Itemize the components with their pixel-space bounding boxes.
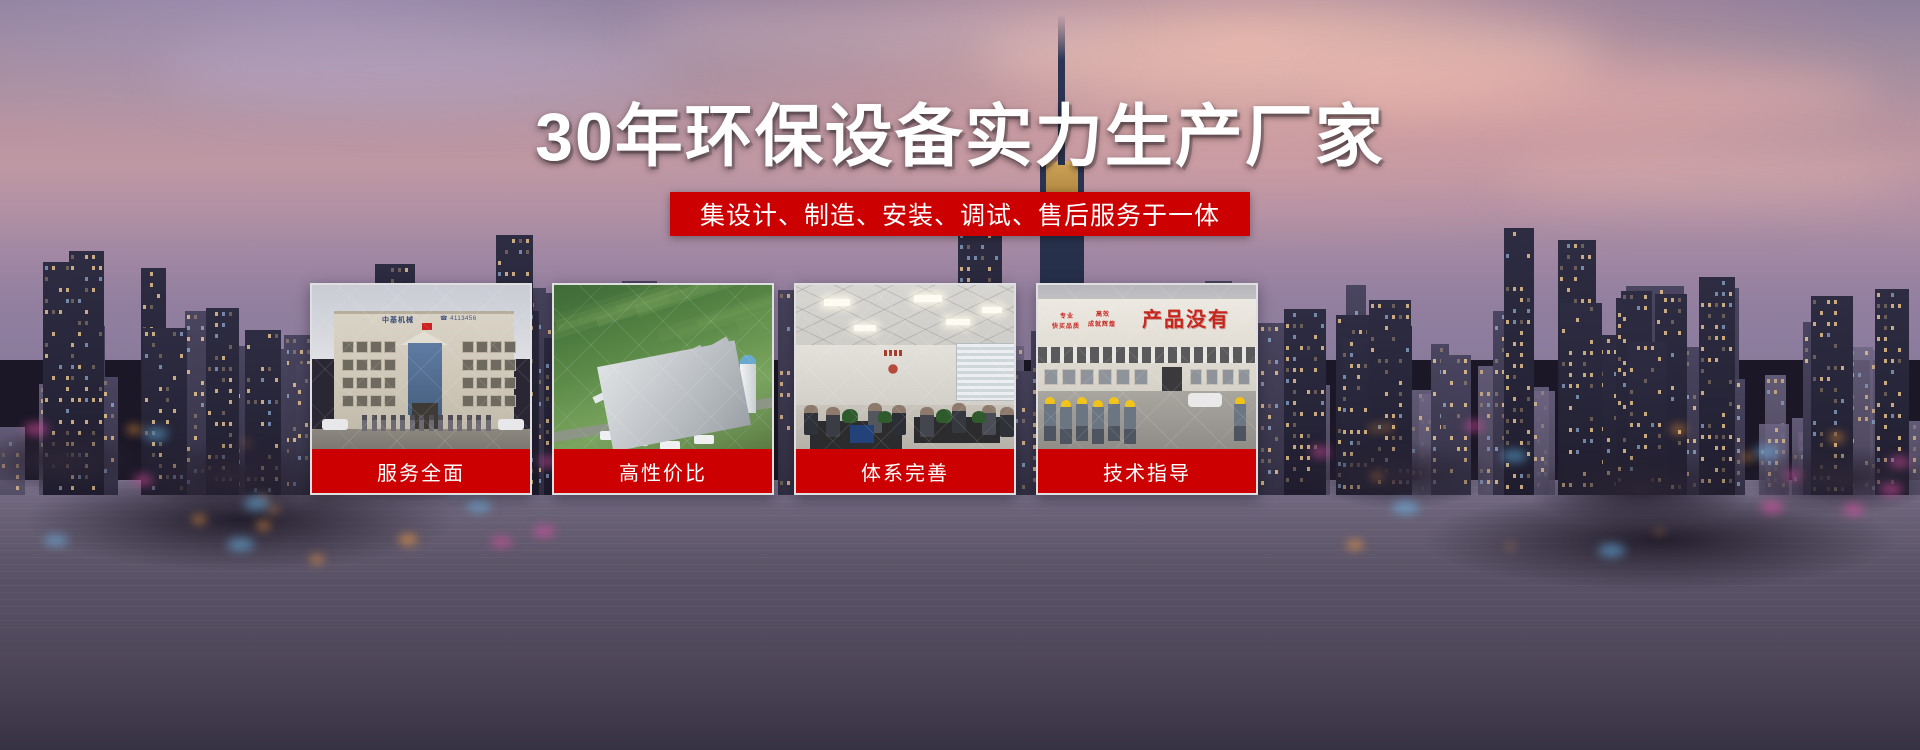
window-light bbox=[1574, 266, 1577, 270]
photo-person bbox=[457, 415, 462, 431]
window-light bbox=[71, 343, 74, 347]
photo-window bbox=[504, 359, 516, 371]
photo-window-blinds bbox=[956, 343, 1014, 401]
window-light bbox=[99, 332, 102, 336]
window-light bbox=[92, 365, 95, 369]
shore-light bbox=[1656, 530, 1663, 533]
window-light bbox=[71, 354, 74, 358]
photo-clerestory-band bbox=[1038, 347, 1256, 363]
window-light bbox=[1834, 311, 1837, 315]
window-light bbox=[1834, 366, 1837, 370]
photo-truck bbox=[694, 435, 714, 444]
window-light bbox=[1715, 325, 1718, 329]
window-light bbox=[1607, 350, 1610, 354]
window-light bbox=[1805, 348, 1808, 352]
window-light bbox=[194, 315, 197, 319]
photo-window bbox=[1062, 369, 1076, 385]
window-light bbox=[222, 367, 225, 371]
window-light bbox=[1701, 325, 1704, 329]
photo-window bbox=[356, 341, 368, 353]
window-light bbox=[145, 332, 148, 336]
window-light bbox=[1574, 244, 1577, 248]
window-light bbox=[1671, 353, 1674, 357]
window-light bbox=[1644, 346, 1647, 350]
window-light bbox=[152, 332, 155, 336]
window-light bbox=[201, 326, 204, 330]
window-light bbox=[173, 332, 176, 336]
window-light bbox=[498, 272, 501, 276]
shore-light bbox=[1347, 541, 1363, 549]
photo-person bbox=[826, 407, 840, 437]
photo-laptop bbox=[850, 425, 874, 443]
window-light bbox=[519, 239, 522, 243]
photo-worker-body bbox=[1124, 407, 1136, 444]
window-light bbox=[52, 310, 55, 314]
photo-window bbox=[504, 377, 516, 389]
company-headquarters-building-photo: 中基机械 ☎ 4113456 bbox=[312, 285, 530, 453]
photo-worker-body bbox=[1092, 407, 1104, 444]
shore-light bbox=[1761, 501, 1784, 512]
window-light bbox=[159, 365, 162, 369]
photo-worker bbox=[1108, 397, 1120, 441]
hard-hat-icon bbox=[1077, 397, 1087, 404]
window-light bbox=[143, 305, 146, 309]
window-light bbox=[1891, 304, 1894, 308]
factory-slogan-text: 成就辉煌 bbox=[1088, 319, 1116, 328]
window-light bbox=[85, 310, 88, 314]
window-light bbox=[1722, 281, 1725, 285]
card-label-value: 高性价比 bbox=[554, 449, 772, 493]
window-light bbox=[1820, 377, 1823, 381]
window-light bbox=[59, 288, 62, 292]
window-light bbox=[1715, 358, 1718, 362]
window-light bbox=[960, 267, 963, 271]
window-light bbox=[208, 367, 211, 371]
window-light bbox=[45, 354, 48, 358]
factory-banner-text: 产品没有 bbox=[1142, 303, 1230, 332]
photo-worker bbox=[1076, 397, 1088, 441]
photo-worker-body bbox=[1060, 407, 1072, 444]
shore-light bbox=[1754, 446, 1779, 458]
window-light bbox=[967, 245, 970, 249]
feature-card-guidance[interactable]: 产品没有 专业 快买品质 高效 成就辉煌 技术指导 bbox=[1036, 283, 1258, 495]
window-light bbox=[1813, 377, 1816, 381]
window-light bbox=[85, 255, 88, 259]
window-light bbox=[71, 365, 74, 369]
window-light bbox=[1569, 373, 1572, 377]
window-light bbox=[960, 278, 963, 282]
photo-window bbox=[1116, 369, 1130, 385]
photo-plant bbox=[936, 409, 952, 423]
window-light bbox=[1820, 333, 1823, 337]
window-light bbox=[78, 321, 81, 325]
window-light bbox=[1708, 336, 1711, 340]
hard-hat-icon bbox=[1109, 397, 1119, 404]
window-light bbox=[1715, 303, 1718, 307]
window-light bbox=[1576, 384, 1579, 388]
window-light bbox=[512, 239, 515, 243]
window-light bbox=[1569, 384, 1572, 388]
photo-window bbox=[504, 341, 516, 353]
window-light bbox=[1898, 348, 1901, 352]
window-light bbox=[187, 326, 190, 330]
photo-person bbox=[486, 415, 491, 431]
photo-person bbox=[362, 415, 367, 431]
window-light bbox=[1722, 303, 1725, 307]
photo-person bbox=[410, 415, 415, 431]
photo-window bbox=[370, 341, 382, 353]
window-light bbox=[215, 312, 218, 316]
window-light bbox=[1623, 295, 1626, 299]
photo-window bbox=[490, 377, 502, 389]
window-light bbox=[1884, 315, 1887, 319]
photo-ceiling-light bbox=[914, 295, 942, 302]
window-light bbox=[1827, 322, 1830, 326]
card-label-system: 体系完善 bbox=[796, 449, 1014, 493]
window-light bbox=[1898, 359, 1901, 363]
photo-window bbox=[384, 341, 396, 353]
window-light bbox=[1708, 380, 1711, 384]
window-light bbox=[1891, 370, 1894, 374]
window-light bbox=[988, 267, 991, 271]
feature-card-system[interactable]: 体系完善 bbox=[794, 283, 1016, 495]
window-light bbox=[1569, 362, 1572, 366]
hard-hat-icon bbox=[1045, 397, 1055, 404]
window-light bbox=[215, 356, 218, 360]
window-light bbox=[268, 334, 271, 338]
photo-silo-cap bbox=[740, 355, 756, 364]
window-light bbox=[974, 256, 977, 260]
window-light bbox=[1813, 355, 1816, 359]
window-light bbox=[293, 339, 296, 343]
window-light bbox=[59, 310, 62, 314]
window-light bbox=[1664, 298, 1667, 302]
window-light bbox=[1506, 254, 1509, 258]
window-light bbox=[405, 268, 408, 272]
photo-person bbox=[1000, 407, 1014, 437]
window-light bbox=[1813, 300, 1816, 304]
window-light bbox=[1891, 326, 1894, 330]
window-light bbox=[1729, 347, 1732, 351]
photo-window bbox=[356, 395, 368, 407]
window-light bbox=[152, 343, 155, 347]
photo-person bbox=[952, 403, 966, 433]
window-light bbox=[1715, 292, 1718, 296]
window-light bbox=[187, 315, 190, 319]
window-light bbox=[1834, 322, 1837, 326]
window-light bbox=[52, 332, 55, 336]
photo-person bbox=[804, 405, 818, 435]
photo-window bbox=[342, 359, 354, 371]
cloud-shape bbox=[640, 0, 1120, 60]
window-light bbox=[1623, 317, 1626, 321]
window-light bbox=[995, 256, 998, 260]
photo-window bbox=[370, 377, 382, 389]
photo-window bbox=[1222, 369, 1234, 385]
office-interior-staff-photo bbox=[796, 285, 1014, 453]
window-light bbox=[967, 256, 970, 260]
photo-window bbox=[462, 395, 474, 407]
window-light bbox=[1664, 309, 1667, 313]
window-light bbox=[1865, 384, 1868, 388]
photo-window bbox=[1080, 369, 1094, 385]
window-light bbox=[1834, 300, 1837, 304]
window-light bbox=[1644, 295, 1647, 299]
window-light bbox=[1623, 372, 1626, 376]
window-light bbox=[150, 305, 153, 309]
window-light bbox=[92, 255, 95, 259]
photo-window bbox=[1134, 369, 1148, 385]
window-light bbox=[78, 299, 81, 303]
window-light bbox=[1877, 304, 1880, 308]
window-light bbox=[1637, 346, 1640, 350]
photo-worker-body bbox=[1108, 404, 1120, 441]
photo-person bbox=[467, 415, 472, 431]
photo-person bbox=[400, 415, 405, 431]
window-light bbox=[1827, 377, 1830, 381]
window-light bbox=[967, 267, 970, 271]
window-light bbox=[1729, 303, 1732, 307]
window-light bbox=[1737, 383, 1740, 387]
window-light bbox=[45, 266, 48, 270]
window-light bbox=[1834, 344, 1837, 348]
shore-light bbox=[257, 522, 269, 528]
window-light bbox=[1623, 383, 1626, 387]
window-light bbox=[85, 343, 88, 347]
window-light bbox=[215, 323, 218, 327]
photo-window bbox=[1044, 369, 1058, 385]
window-light bbox=[1581, 244, 1584, 248]
window-light bbox=[157, 294, 160, 298]
factory-slogan-text: 高效 bbox=[1096, 309, 1110, 318]
hard-hat-icon bbox=[1061, 400, 1071, 407]
window-light bbox=[52, 266, 55, 270]
window-light bbox=[1841, 366, 1844, 370]
window-light bbox=[78, 332, 81, 336]
photo-window bbox=[342, 341, 354, 353]
photo-window bbox=[342, 395, 354, 407]
window-light bbox=[215, 367, 218, 371]
window-light bbox=[222, 312, 225, 316]
window-light bbox=[187, 348, 190, 352]
window-light bbox=[1827, 300, 1830, 304]
window-light bbox=[1701, 358, 1704, 362]
page-title: 30年环保设备实力生产厂家 bbox=[0, 100, 1920, 175]
window-light bbox=[1722, 325, 1725, 329]
photo-wall-logo bbox=[882, 357, 904, 377]
hard-hat-icon bbox=[1093, 400, 1103, 407]
window-light bbox=[1658, 357, 1661, 361]
photo-window bbox=[370, 395, 382, 407]
window-light bbox=[45, 310, 48, 314]
window-light bbox=[1623, 361, 1626, 365]
photo-worker bbox=[1044, 397, 1056, 441]
window-light bbox=[180, 332, 183, 336]
shore-light bbox=[491, 537, 512, 547]
window-light bbox=[1569, 351, 1572, 355]
photo-window bbox=[490, 395, 502, 407]
window-light bbox=[1877, 337, 1880, 341]
window-light bbox=[71, 266, 74, 270]
window-light bbox=[981, 245, 984, 249]
window-light bbox=[526, 272, 529, 276]
window-light bbox=[519, 250, 522, 254]
window-light bbox=[222, 323, 225, 327]
window-light bbox=[275, 334, 278, 338]
photo-flag bbox=[422, 323, 432, 330]
photo-window bbox=[490, 341, 502, 353]
window-light bbox=[1729, 380, 1732, 384]
window-light bbox=[229, 312, 232, 316]
window-light bbox=[1664, 331, 1667, 335]
photo-worker-body bbox=[1044, 404, 1056, 441]
window-light bbox=[1562, 362, 1565, 366]
photo-person bbox=[381, 415, 386, 431]
window-light bbox=[1708, 303, 1711, 307]
photo-window bbox=[476, 341, 488, 353]
photo-window bbox=[462, 377, 474, 389]
window-light bbox=[1513, 232, 1516, 236]
window-light bbox=[1805, 359, 1808, 363]
window-light bbox=[1884, 359, 1887, 363]
window-light bbox=[1590, 351, 1593, 355]
window-light bbox=[159, 354, 162, 358]
window-light bbox=[71, 299, 74, 303]
photo-person bbox=[391, 415, 396, 431]
photo-worker bbox=[1124, 400, 1136, 444]
photo-window bbox=[462, 341, 474, 353]
feature-card-service[interactable]: 中基机械 ☎ 4113456 服务全面 bbox=[310, 283, 532, 495]
window-light bbox=[391, 268, 394, 272]
window-light bbox=[1567, 288, 1570, 292]
window-light bbox=[1891, 293, 1894, 297]
photo-car bbox=[322, 419, 348, 430]
window-light bbox=[1590, 340, 1593, 344]
window-light bbox=[988, 278, 991, 282]
window-light bbox=[1576, 318, 1579, 322]
window-light bbox=[505, 272, 508, 276]
window-light bbox=[1623, 339, 1626, 343]
window-light bbox=[45, 277, 48, 281]
photo-person bbox=[429, 415, 434, 431]
shore-light bbox=[1829, 434, 1844, 441]
photo-window bbox=[1206, 369, 1218, 385]
subtitle-text: 集设计、制造、安装、调试、售后服务于一体 bbox=[700, 196, 1220, 232]
window-light bbox=[1708, 358, 1711, 362]
window-light bbox=[1562, 329, 1565, 333]
window-light bbox=[1581, 255, 1584, 259]
window-light bbox=[1671, 298, 1674, 302]
window-light bbox=[1884, 381, 1887, 385]
photo-ceiling-light bbox=[946, 319, 970, 325]
window-light bbox=[1583, 351, 1586, 355]
window-light bbox=[1574, 277, 1577, 281]
cloud-shape bbox=[160, 30, 680, 110]
window-light bbox=[229, 367, 232, 371]
window-light bbox=[229, 345, 232, 349]
card-label-text: 体系完善 bbox=[861, 457, 949, 486]
hard-hat-icon bbox=[1235, 397, 1245, 404]
photo-worker bbox=[1092, 400, 1104, 444]
window-light bbox=[1722, 336, 1725, 340]
building-phone-text: ☎ 4113456 bbox=[440, 315, 477, 322]
window-light bbox=[1767, 379, 1770, 383]
window-light bbox=[1722, 292, 1725, 296]
card-label-text: 高性价比 bbox=[619, 457, 707, 486]
photo-worker-body bbox=[1234, 404, 1246, 441]
photo-worker bbox=[1234, 397, 1246, 441]
window-light bbox=[1644, 379, 1647, 383]
window-light bbox=[981, 256, 984, 260]
window-light bbox=[261, 367, 264, 371]
photo-car bbox=[1188, 393, 1222, 407]
shore-light bbox=[244, 497, 270, 510]
building-sign-text: 中基机械 bbox=[382, 315, 414, 325]
photo-ceiling-light bbox=[824, 299, 850, 306]
window-light bbox=[45, 343, 48, 347]
window-light bbox=[1678, 331, 1681, 335]
window-light bbox=[1583, 373, 1586, 377]
window-light bbox=[1637, 306, 1640, 310]
window-light bbox=[1877, 293, 1880, 297]
photo-person bbox=[476, 415, 481, 431]
card-label-guidance: 技术指导 bbox=[1038, 449, 1256, 493]
photo-ceiling-light bbox=[982, 307, 1002, 313]
photo-window bbox=[356, 359, 368, 371]
photo-window bbox=[342, 377, 354, 389]
photo-window bbox=[1238, 369, 1250, 385]
window-light bbox=[1715, 336, 1718, 340]
card-label-text: 技术指导 bbox=[1103, 457, 1191, 486]
window-light bbox=[1722, 314, 1725, 318]
photo-worker bbox=[1060, 400, 1072, 444]
window-light bbox=[187, 370, 190, 374]
window-light bbox=[1590, 307, 1593, 311]
window-light bbox=[967, 278, 970, 282]
window-light bbox=[1657, 320, 1660, 324]
window-light bbox=[99, 266, 102, 270]
shore-light bbox=[1392, 501, 1419, 514]
window-light bbox=[293, 350, 296, 354]
window-light bbox=[1583, 362, 1586, 366]
window-light bbox=[1607, 339, 1610, 343]
window-light bbox=[286, 339, 289, 343]
window-light bbox=[1560, 266, 1563, 270]
window-light bbox=[1865, 351, 1868, 355]
shore-light bbox=[192, 516, 206, 523]
photo-window bbox=[504, 395, 516, 407]
feature-card-value[interactable]: 高性价比 bbox=[552, 283, 774, 495]
window-light bbox=[1567, 244, 1570, 248]
window-light bbox=[1671, 386, 1674, 390]
window-light bbox=[1678, 309, 1681, 313]
window-light bbox=[180, 354, 183, 358]
window-light bbox=[505, 250, 508, 254]
photo-window bbox=[356, 377, 368, 389]
window-light bbox=[1898, 304, 1901, 308]
photo-window bbox=[476, 377, 488, 389]
window-light bbox=[71, 255, 74, 259]
photo-person bbox=[438, 415, 443, 431]
window-light bbox=[1774, 379, 1777, 383]
window-light bbox=[1590, 384, 1593, 388]
window-light bbox=[247, 345, 250, 349]
window-light bbox=[1560, 277, 1563, 281]
window-light bbox=[1701, 347, 1704, 351]
window-light bbox=[187, 337, 190, 341]
shore-light bbox=[1880, 484, 1902, 495]
window-light bbox=[1820, 311, 1823, 315]
